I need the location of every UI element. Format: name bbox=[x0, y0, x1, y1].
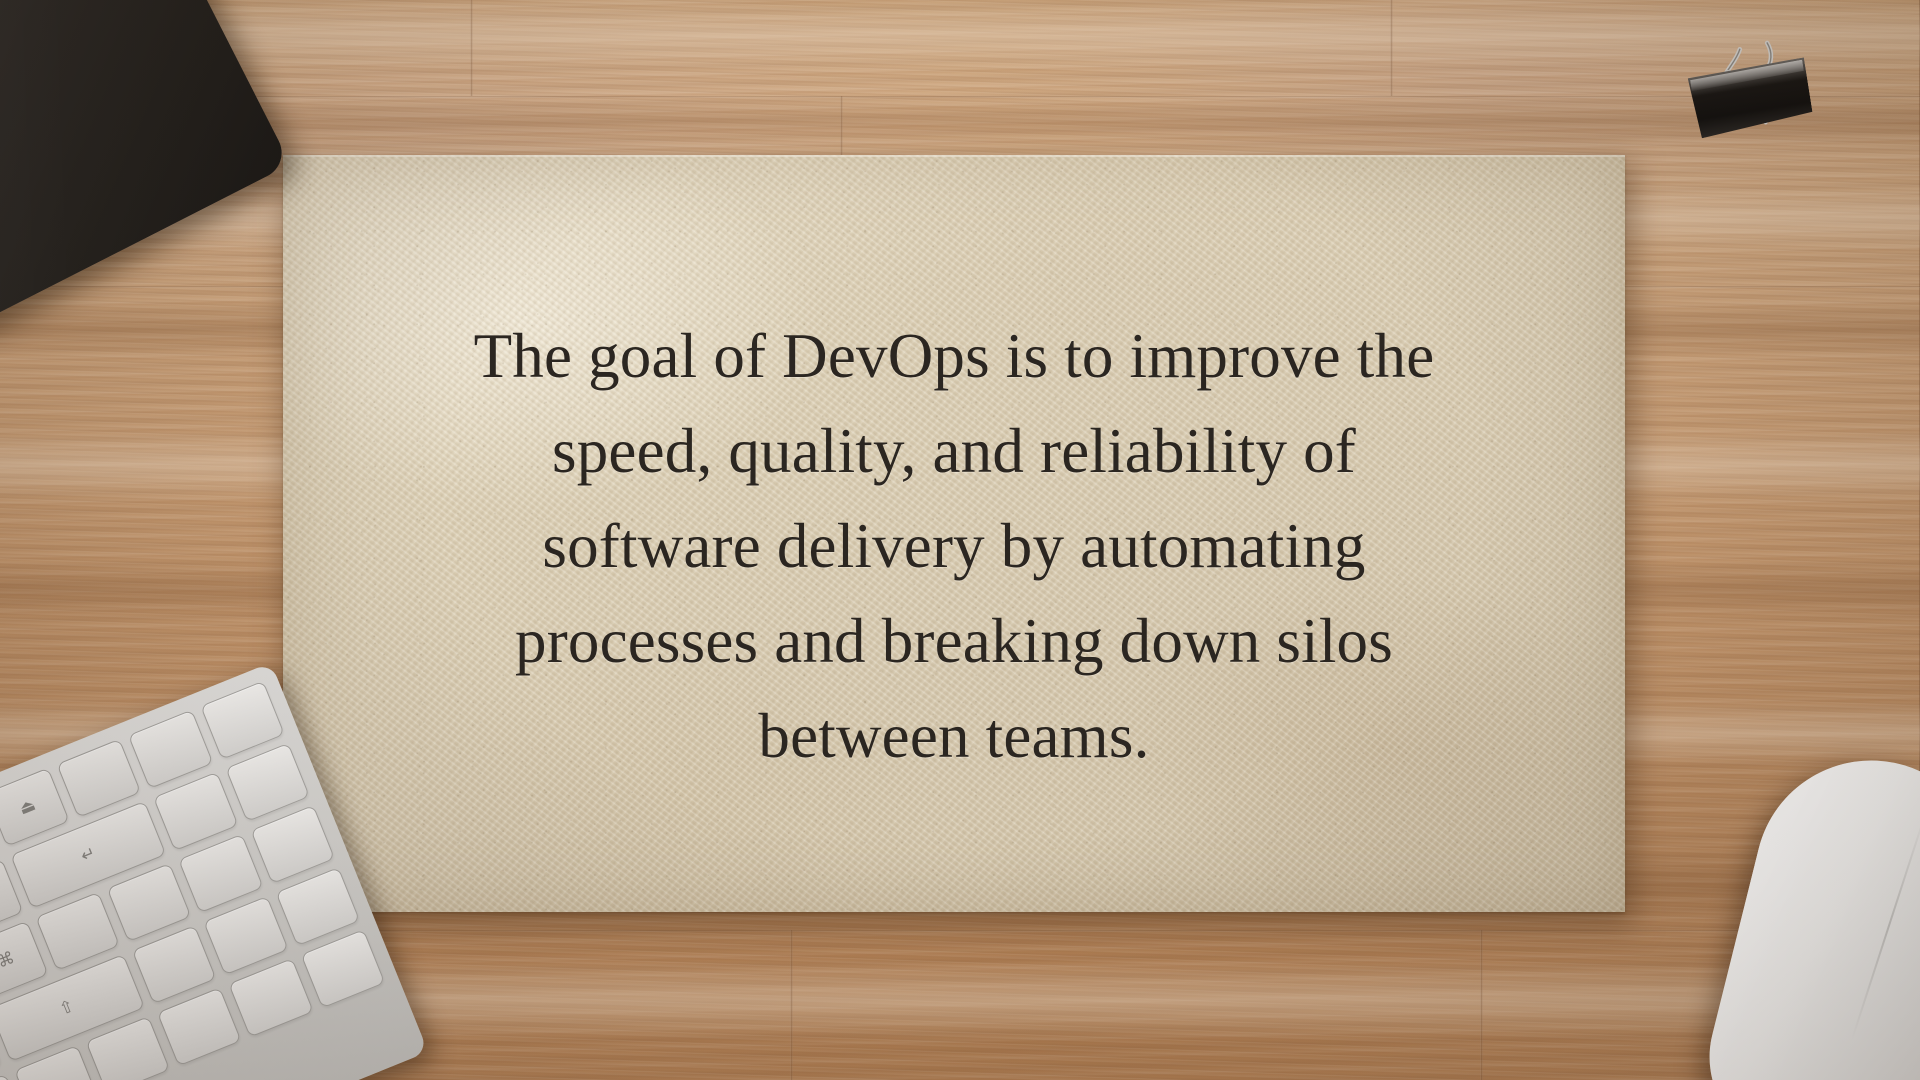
paper-texture bbox=[283, 155, 1625, 912]
keyboard-key bbox=[229, 958, 314, 1037]
plank-seam bbox=[0, 96, 1920, 98]
plank-seam bbox=[1390, 0, 1393, 96]
kraft-paper-card bbox=[283, 155, 1625, 912]
binder-clip bbox=[1684, 35, 1818, 141]
keyboard-key bbox=[300, 929, 385, 1008]
plank-seam bbox=[790, 930, 793, 1080]
plank-seam bbox=[1480, 930, 1483, 1080]
quote-scene: The goal of DevOps is to improve the spe… bbox=[0, 0, 1920, 1080]
keyboard-key bbox=[157, 987, 242, 1066]
plank-seam bbox=[470, 0, 473, 96]
